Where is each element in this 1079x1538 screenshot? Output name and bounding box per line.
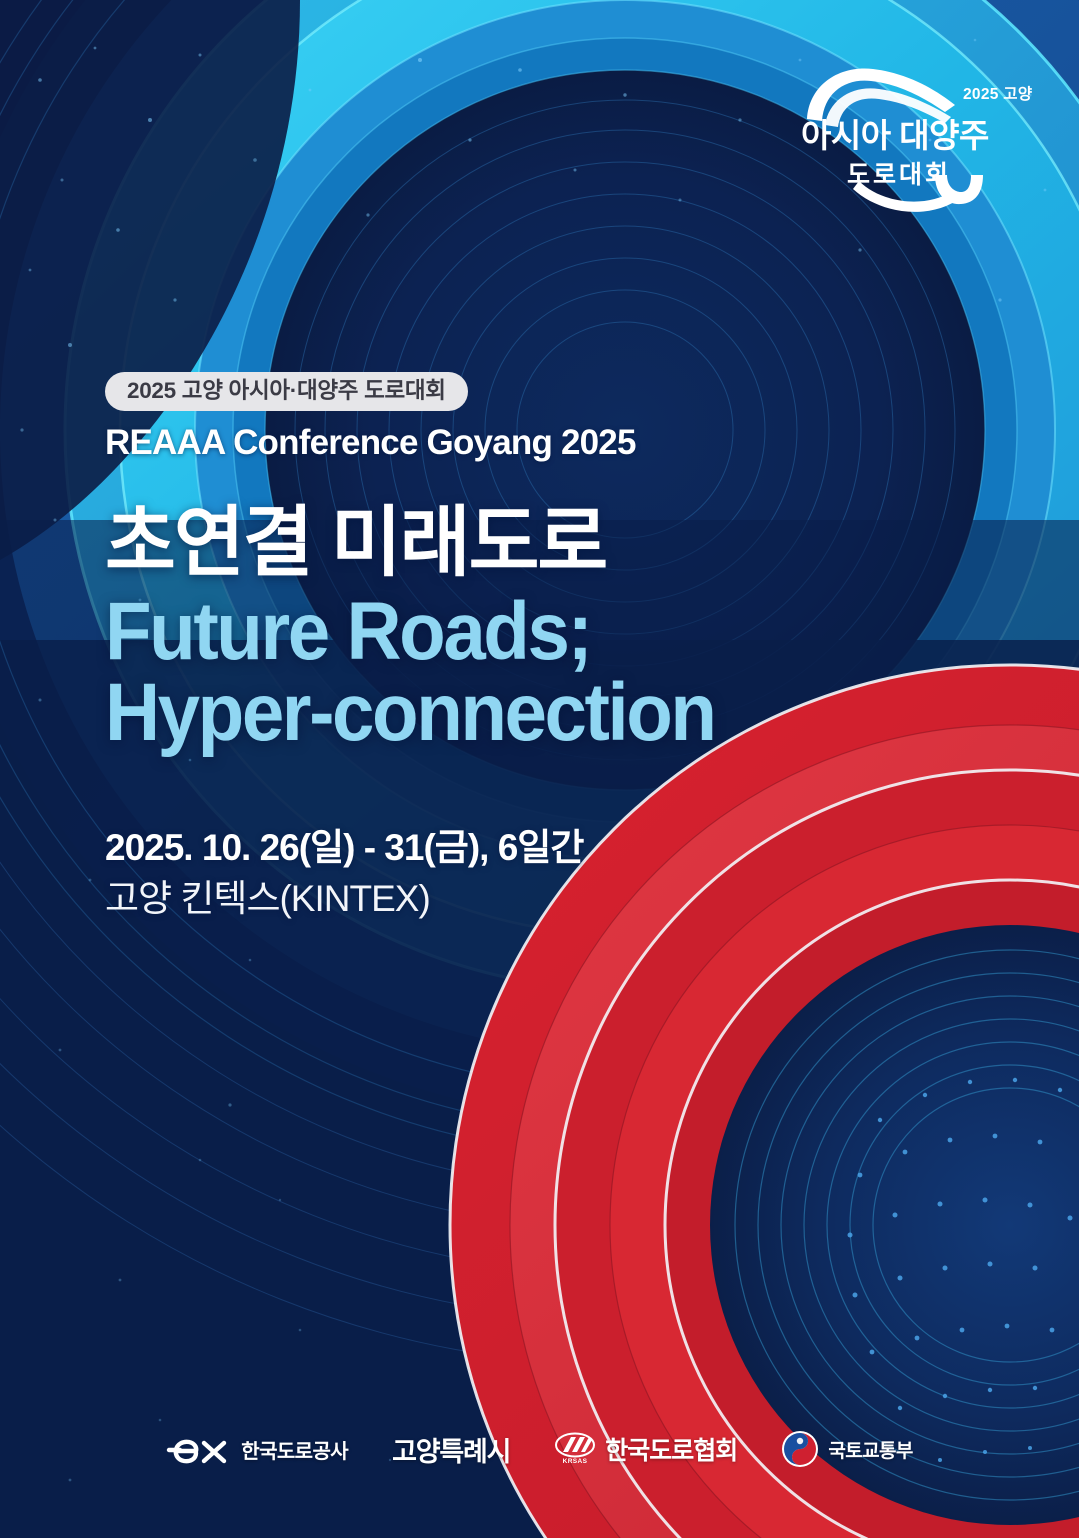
event-date: 2025. 10. 26(일) - 31(금), 6일간 [105,827,1005,870]
sponsor-row: 한국도로공사 고양특례시 KRSAS [0,1428,1079,1470]
ex-logo-icon [166,1434,232,1464]
logo-year-city: 2025 고양 [963,85,1032,103]
molit-taegeuk-icon [781,1430,819,1468]
event-venue: 고양 킨텍스(KINTEX) [105,878,1005,921]
sponsor-korea-expressway: 한국도로공사 [166,1428,348,1470]
english-headline-line-1: Future Roads; [105,591,942,672]
conference-poster: 2025 고양 아시아 대양주 도로대회 2025 고양 아시아·대양주 도로대… [0,0,1079,1538]
event-badge: 2025 고양 아시아·대양주 도로대회 [105,372,468,411]
korean-headline: 초연결 미래도로 [105,504,1005,583]
poster-content: 2025 고양 아시아 대양주 도로대회 2025 고양 아시아·대양주 도로대… [0,0,1079,1538]
sponsor-label: 한국도로공사 [241,1435,348,1464]
event-logo-graphic: 2025 고양 아시아 대양주 도로대회 [795,55,1035,220]
sponsor-label: 국토교통부 [828,1436,912,1463]
poster-text-block: 2025 고양 아시아·대양주 도로대회 REAAA Conference Go… [105,372,1005,920]
sponsor-label: 고양특례시 [392,1430,510,1469]
korea-road-association-icon: KRSAS [554,1432,596,1466]
sponsor-korea-road-association: KRSAS 한국도로협회 [554,1428,737,1470]
logo-line-1: 아시아 대양주 [801,117,989,154]
event-logo: 2025 고양 아시아 대양주 도로대회 [795,55,1035,220]
sponsor-molit: 국토교통부 [781,1428,912,1470]
sponsor-goyang-city: 고양특례시 [392,1428,510,1470]
english-headline-line-2: Hyper-connection [105,672,942,753]
english-headline: Future Roads; Hyper-connection [105,591,942,753]
sponsor-label: 한국도로협회 [605,1431,737,1467]
english-subtitle: REAAA Conference Goyang 2025 [105,424,1005,463]
svg-text:KRSAS: KRSAS [563,1458,588,1465]
logo-line-2: 도로대회 [847,161,951,189]
